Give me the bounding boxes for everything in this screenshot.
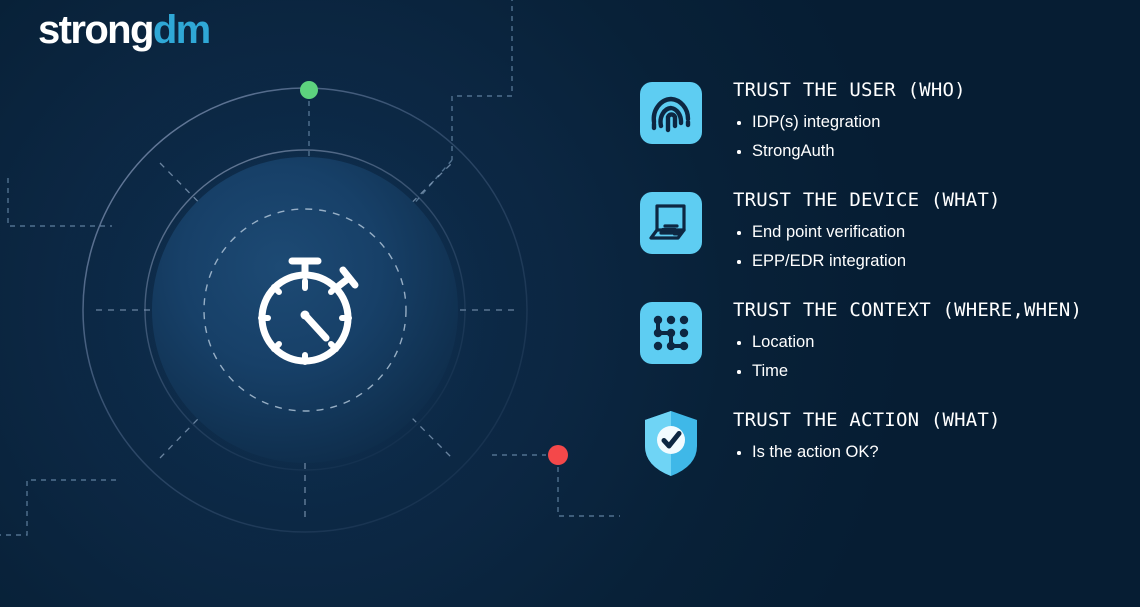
list-item: Location [733,328,1120,357]
feature-title: TRUST THE USER (WHO) [733,78,1120,102]
shield-check-icon [640,408,702,478]
status-node-red[interactable] [548,445,568,465]
list-item: IDP(s) integration [733,108,1120,137]
list-item: Is the action OK? [733,438,1120,467]
feature-trust-the-device: TRUST THE DEVICE (WHAT) End point verifi… [640,170,1120,280]
feature-bullets: Is the action OK? [733,438,1120,467]
center-sphere [152,157,458,463]
list-item: End point verification [733,218,1120,247]
feature-trust-the-user: TRUST THE USER (WHO) IDP(s) integration … [640,60,1120,170]
pattern-lock-icon [640,298,702,368]
feature-title: TRUST THE ACTION (WHAT) [733,408,1120,432]
hero-radar-graphic [0,0,620,607]
list-item: EPP/EDR integration [733,247,1120,276]
feature-title: TRUST THE DEVICE (WHAT) [733,188,1120,212]
infographic-stage: strongdm [0,0,1140,607]
feature-list: TRUST THE USER (WHO) IDP(s) integration … [640,60,1120,500]
feature-title: TRUST THE CONTEXT (WHERE,WHEN) [733,298,1120,322]
feature-bullets: End point verification EPP/EDR integrati… [733,218,1120,276]
list-item: StrongAuth [733,137,1120,166]
laptop-icon [640,188,702,258]
feature-bullets: Location Time [733,328,1120,386]
list-item: Time [733,357,1120,386]
feature-trust-the-action: TRUST THE ACTION (WHAT) Is the action OK… [640,390,1120,500]
status-node-green[interactable] [300,81,318,99]
feature-trust-the-context: TRUST THE CONTEXT (WHERE,WHEN) Location … [640,280,1120,390]
fingerprint-icon [640,78,702,148]
feature-bullets: IDP(s) integration StrongAuth [733,108,1120,166]
